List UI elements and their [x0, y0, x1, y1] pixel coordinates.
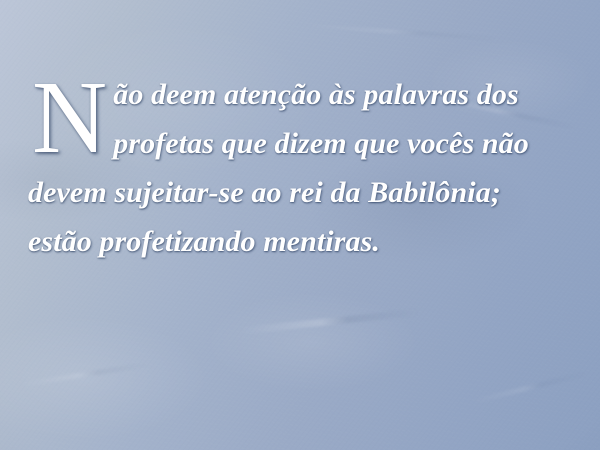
verse-image-canvas: Não deem atenção às palavras dosprofetas…	[0, 0, 600, 450]
verse-text: Não deem atenção às palavras dosprofetas…	[28, 70, 580, 266]
verse-dropcap: N	[28, 72, 113, 159]
verse-block: Não deem atenção às palavras dosprofetas…	[0, 0, 600, 330]
verse-line-4: estão profetizando mentiras.	[28, 217, 580, 266]
footer-bar: Jeremias 27:14 Bíbliaon.com	[0, 380, 600, 450]
verse-line-3: devem sujeitar-se ao rei da Babilônia;	[28, 168, 580, 217]
